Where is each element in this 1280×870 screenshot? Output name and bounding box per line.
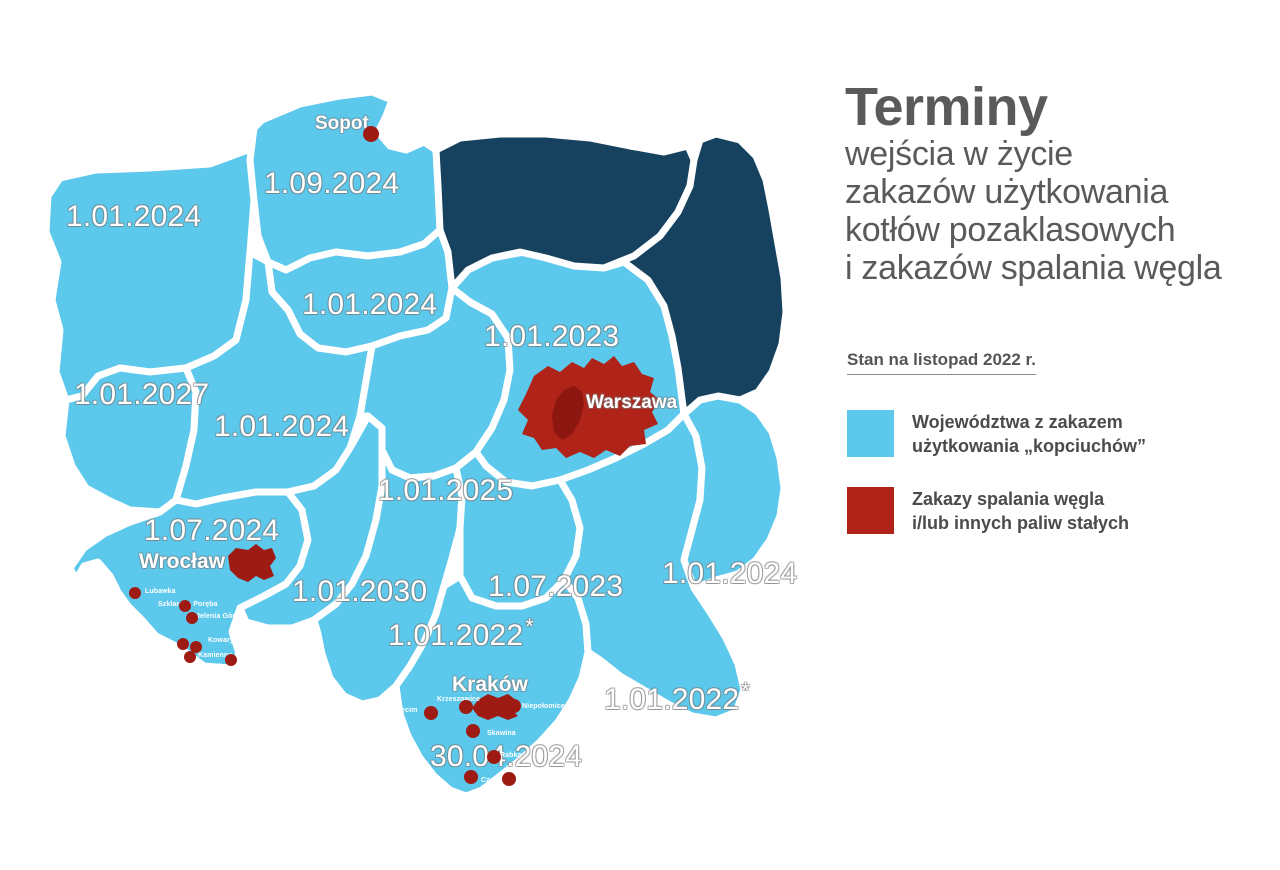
region-pomorskie[interactable] — [250, 92, 440, 270]
legend-text-red: Zakazy spalania węgla i/lub innych paliw… — [912, 487, 1129, 536]
region-lubelskie[interactable] — [684, 396, 784, 588]
map-panel: 1.01.2024 1.09.2024 1.01.2024 1.01.2023 … — [0, 0, 840, 870]
legend-blue-line-1: Województwa z zakazem — [912, 411, 1146, 435]
legend-red-line-2: i/lub innych paliw stałych — [912, 512, 1129, 536]
legend-red-line-1: Zakazy spalania węgla — [912, 488, 1129, 512]
headline-line-3: kotłów pozaklasowych — [845, 211, 1265, 249]
legend-swatch-blue — [847, 410, 894, 457]
headline-block: Terminy wejścia w życie zakazów użytkowa… — [845, 80, 1265, 287]
legend-item-blue: Województwa z zakazem użytkowania „kopci… — [847, 410, 1277, 459]
headline-line-1: wejścia w życie — [845, 135, 1265, 173]
headline-line-4: i zakazów spalania węgla — [845, 249, 1265, 287]
legend-blue-line-2: użytkowania „kopciuchów” — [912, 435, 1146, 459]
legend-item-red: Zakazy spalania węgla i/lub innych paliw… — [847, 487, 1277, 536]
text-panel: Terminy wejścia w życie zakazów użytkowa… — [845, 0, 1280, 870]
legend-swatch-red — [847, 487, 894, 534]
page-title: Terminy — [845, 80, 1265, 135]
poland-voivodeship-map — [0, 0, 840, 870]
headline-line-2: zakazów użytkowania — [845, 173, 1265, 211]
legend-text-blue: Województwa z zakazem użytkowania „kopci… — [912, 410, 1146, 459]
status-note: Stan na listopad 2022 r. — [847, 350, 1036, 375]
legend: Województwa z zakazem użytkowania „kopci… — [847, 410, 1277, 564]
region-dolnoslaskie[interactable] — [70, 492, 308, 668]
